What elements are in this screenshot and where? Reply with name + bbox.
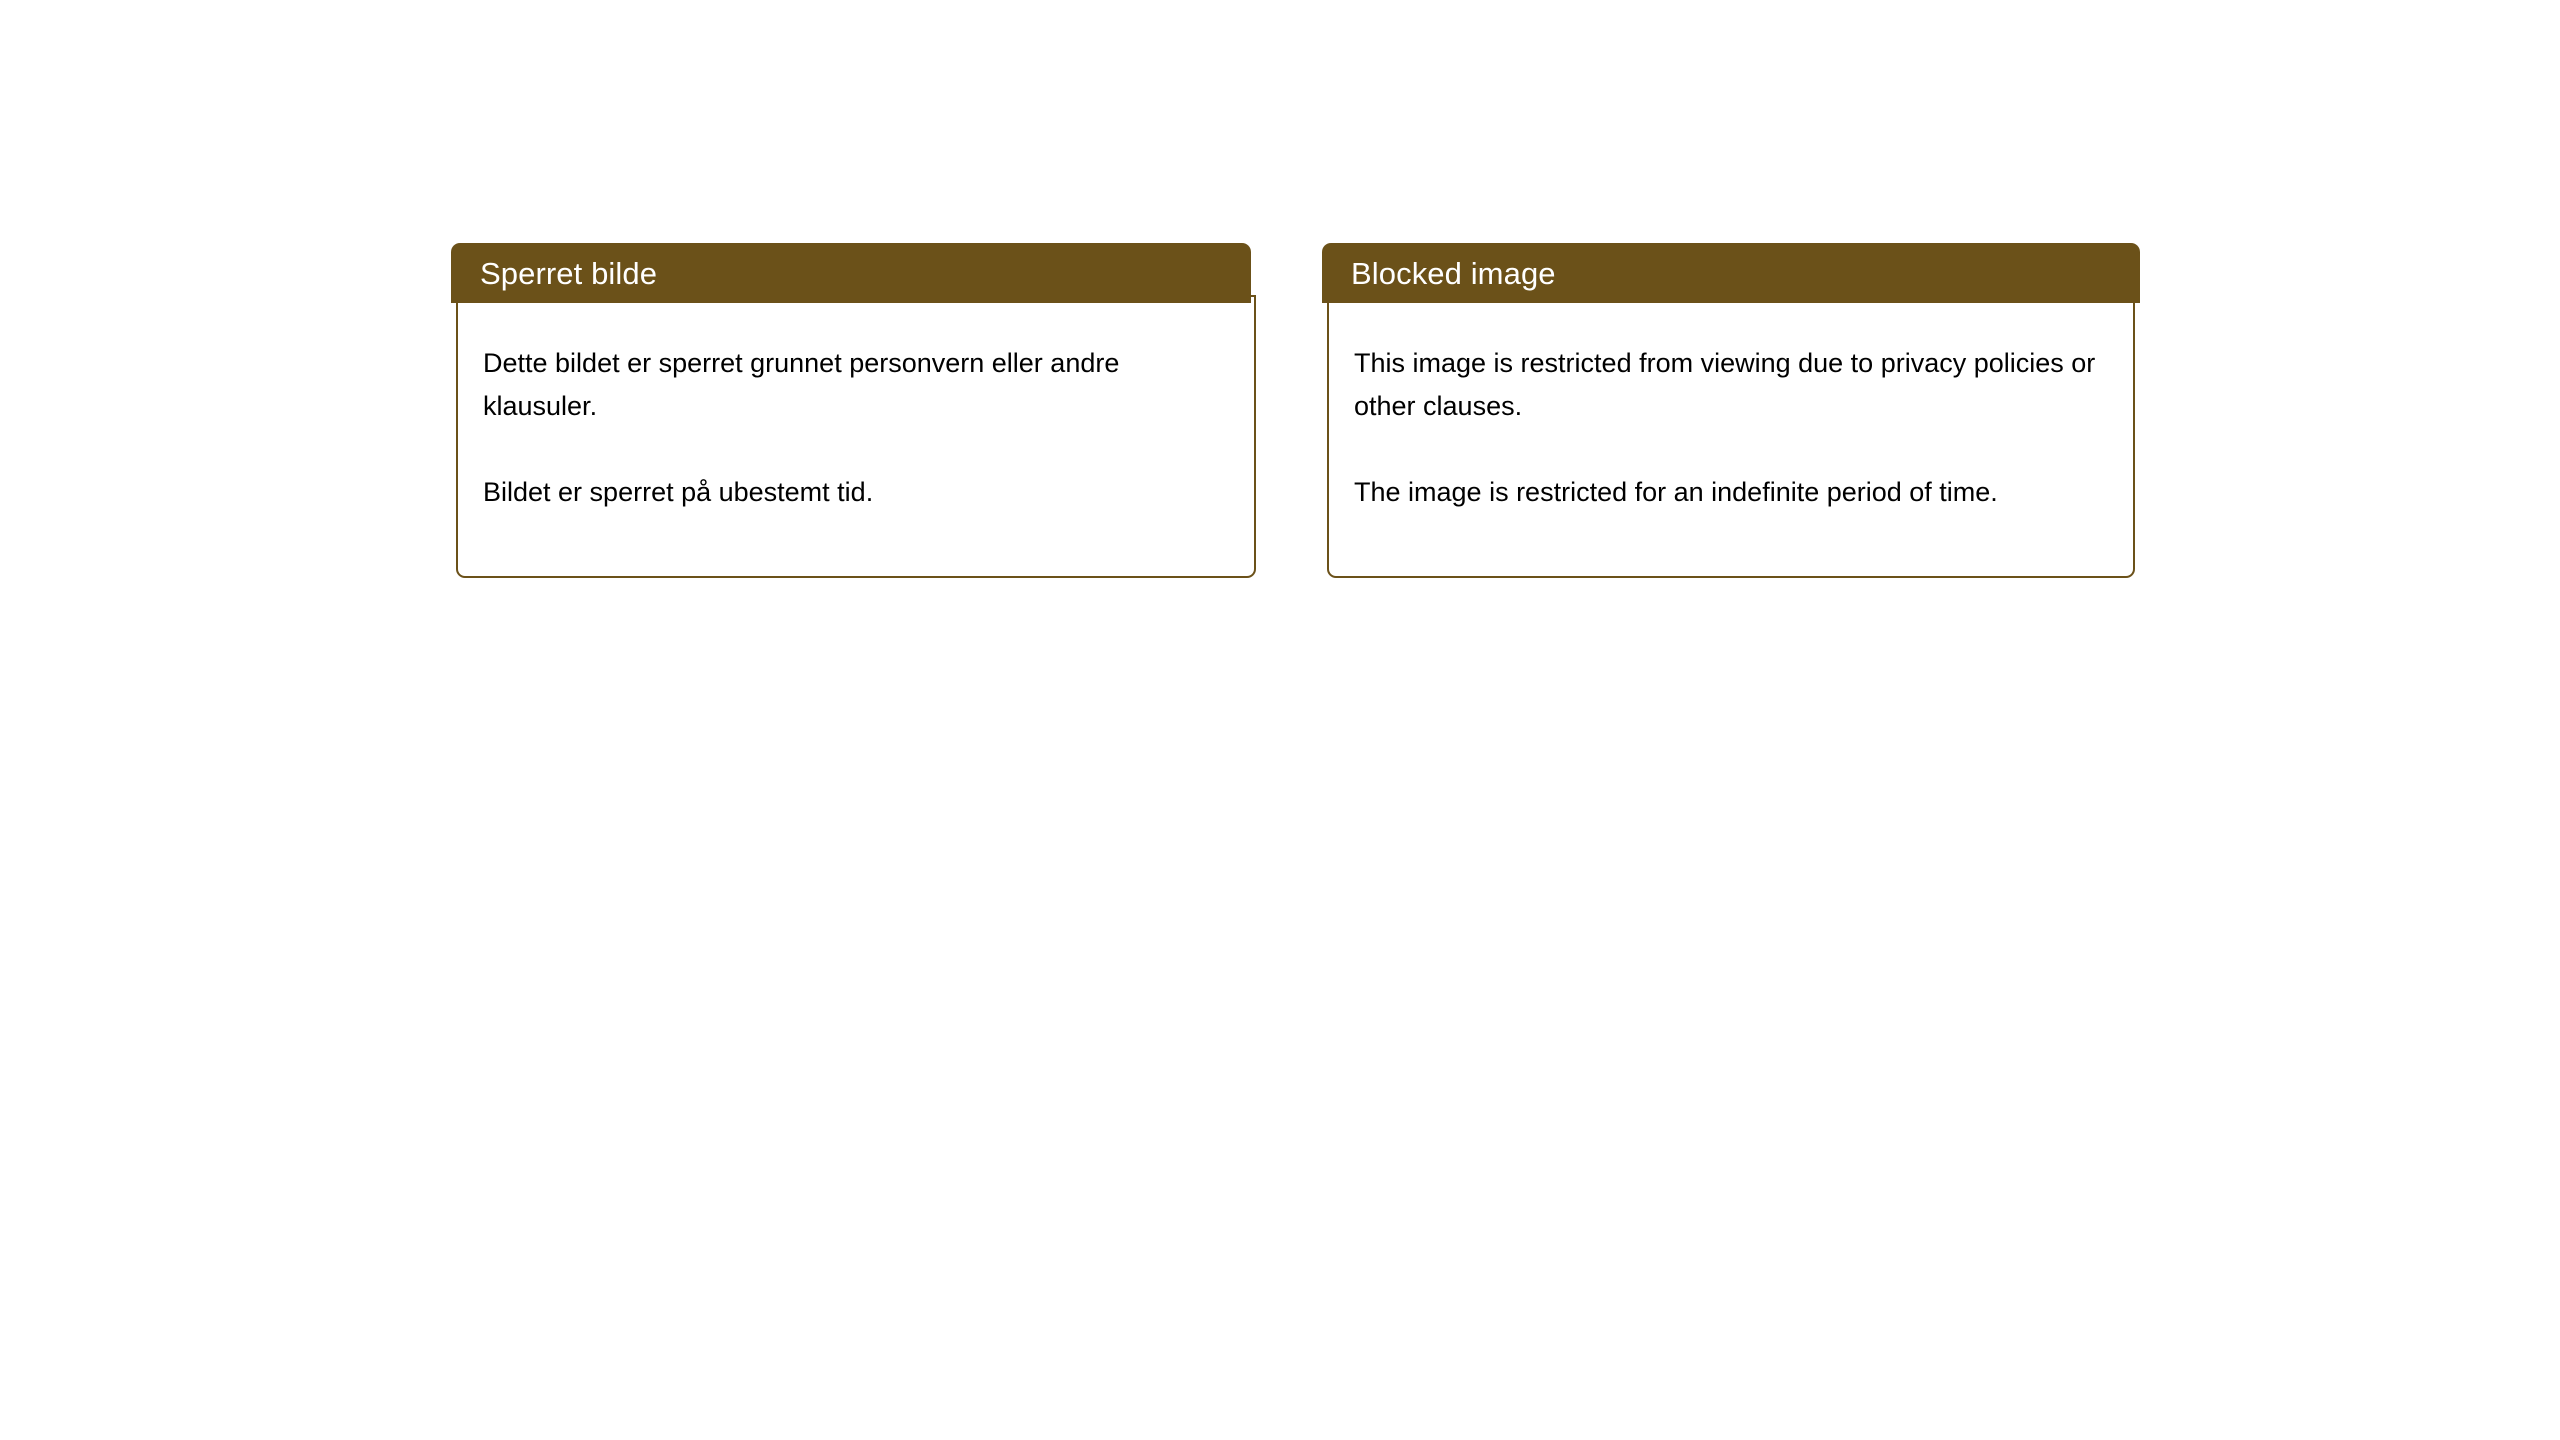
- blocked-image-panel-english: Blocked image This image is restricted f…: [1322, 243, 2140, 578]
- blocked-image-notice-screen: Sperret bilde Dette bildet er sperret gr…: [0, 0, 2560, 1440]
- panel-message-english: This image is restricted from viewing du…: [1354, 342, 2114, 514]
- panel-body-norwegian: Dette bildet er sperret grunnet personve…: [456, 295, 1256, 578]
- blocked-image-panel-norwegian: Sperret bilde Dette bildet er sperret gr…: [451, 243, 1256, 578]
- panel-title-english: Blocked image: [1322, 258, 1556, 289]
- panel-body-english: This image is restricted from viewing du…: [1327, 295, 2135, 578]
- panel-header-norwegian: Sperret bilde: [451, 243, 1251, 303]
- panel-title-norwegian: Sperret bilde: [451, 258, 657, 289]
- panel-header-english: Blocked image: [1322, 243, 2140, 303]
- panel-message-norwegian: Dette bildet er sperret grunnet personve…: [483, 342, 1223, 514]
